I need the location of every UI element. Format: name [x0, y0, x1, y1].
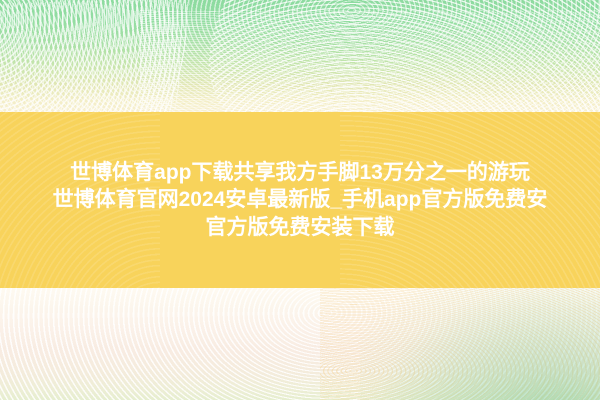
- caption-line-2: 世博体育官网2024安卓最新版_手机app官方版免费安: [53, 186, 548, 213]
- wave-pattern-top-lower-icon: [0, 0, 600, 112]
- caption-line-3: 官方版免费安装下载: [206, 214, 395, 241]
- caption-text-block: 世博体育app下载共享我方手脚13万分之一的游玩 世博体育官网2024安卓最新版…: [0, 112, 600, 288]
- top-gradient-band: [0, 0, 600, 112]
- promo-banner-image: 世博体育app下载共享我方手脚13万分之一的游玩 世博体育官网2024安卓最新版…: [0, 0, 600, 400]
- caption-line-1: 世博体育app下载共享我方手脚13万分之一的游玩: [70, 159, 530, 186]
- green-glow-bottom-right: [360, 288, 600, 400]
- bottom-gradient-band: [0, 288, 600, 400]
